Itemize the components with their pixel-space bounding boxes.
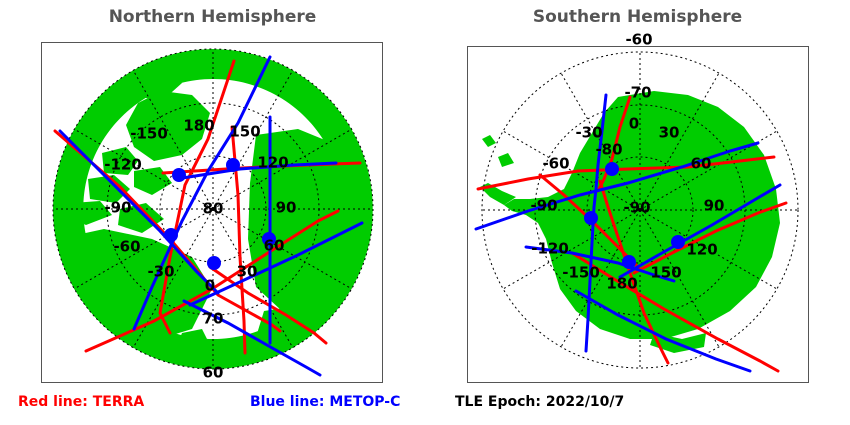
legend-tle-epoch: TLE Epoch: 2022/10/7 xyxy=(455,394,624,410)
southern-hemisphere-title: Southern Hemisphere xyxy=(425,7,850,27)
southern-hemisphere-plot[interactable]: -70 0 -30 30 -80 -60 60 -90 -90 90 -120 … xyxy=(467,46,809,383)
legend-red-line-terra: Red line: TERRA xyxy=(18,394,144,410)
northern-map-graphic xyxy=(42,43,384,384)
northern-hemisphere-plot[interactable]: -150 180 150 -120 120 -90 90 -60 60 -30 … xyxy=(41,42,383,383)
legend-blue-line-metopc: Blue line: METOP-C xyxy=(250,394,400,410)
southern-hemisphere-panel: Southern Hemisphere -60 xyxy=(425,0,850,392)
northern-hemisphere-panel: Northern Hemisphere xyxy=(0,0,425,392)
southern-map-graphic xyxy=(468,47,810,384)
legend-row: Red line: TERRA Blue line: METOP-C TLE E… xyxy=(0,394,850,420)
northern-hemisphere-title: Northern Hemisphere xyxy=(0,7,425,27)
